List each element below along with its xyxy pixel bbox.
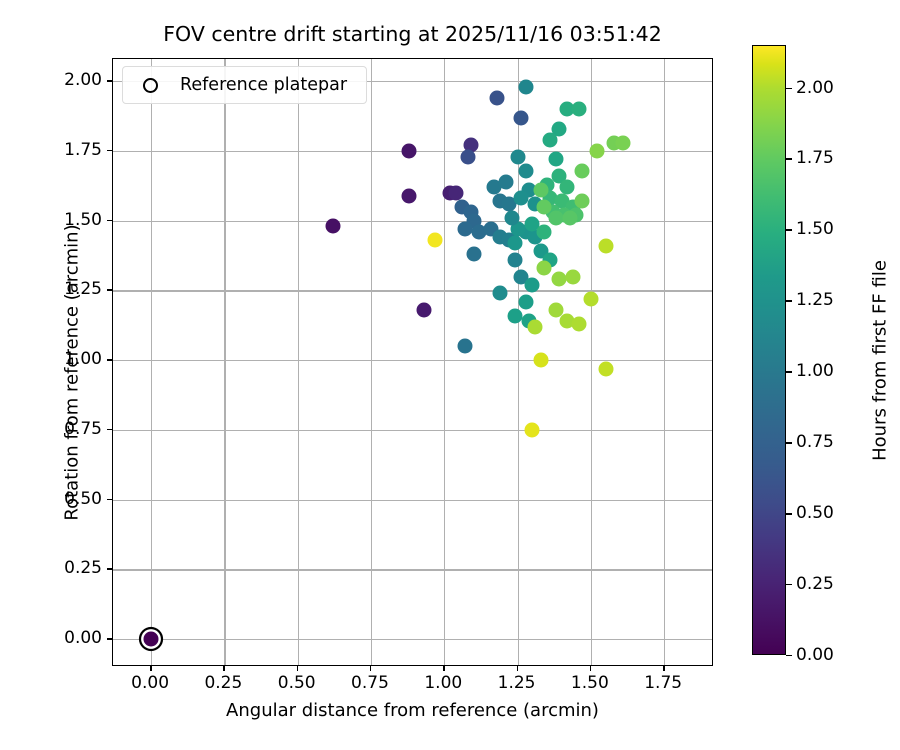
- scatter-point: [560, 180, 575, 195]
- y-axis-label: Rotation from reference (arcmin): [62, 69, 83, 677]
- colorbar-tick: [786, 371, 792, 372]
- scatter-point: [519, 163, 534, 178]
- chart-figure: FOV centre drift starting at 2025/11/16 …: [0, 0, 900, 750]
- scatter-point: [572, 102, 587, 117]
- colorbar-tick: [786, 300, 792, 301]
- scatter-point: [572, 316, 587, 331]
- y-tick: [107, 638, 112, 639]
- reference-platepar-marker-icon: [143, 78, 158, 93]
- y-tick: [107, 359, 112, 360]
- scatter-point: [575, 163, 590, 178]
- colorbar-tick-label: 1.50: [796, 219, 834, 239]
- colorbar-tick-label: 0.00: [796, 645, 834, 665]
- scatter-point: [528, 319, 543, 334]
- x-tick: [297, 666, 298, 671]
- x-tick: [663, 666, 664, 671]
- plot-area: [112, 58, 713, 666]
- y-tick: [107, 220, 112, 221]
- x-tick: [517, 666, 518, 671]
- colorbar-tick-label: 2.00: [796, 78, 834, 98]
- scatter-point: [402, 144, 417, 159]
- scatter-point: [402, 188, 417, 203]
- colorbar-tick-label: 1.75: [796, 148, 834, 168]
- scatter-point: [536, 224, 551, 239]
- scatter-point: [534, 353, 549, 368]
- colorbar-tick-label: 1.00: [796, 361, 834, 381]
- scatter-point: [583, 291, 598, 306]
- x-tick-label: 1.75: [628, 673, 698, 693]
- scatter-point: [536, 199, 551, 214]
- scatter-point: [548, 210, 563, 225]
- colorbar-label: Hours from first FF file: [870, 56, 891, 666]
- x-tick: [443, 666, 444, 671]
- x-tick-label: 0.50: [262, 673, 332, 693]
- scatter-point: [534, 183, 549, 198]
- scatter-point: [525, 277, 540, 292]
- x-tick-label: 1.00: [408, 673, 478, 693]
- scatter-point: [616, 135, 631, 150]
- scatter-point: [449, 185, 464, 200]
- colorbar-tick: [786, 88, 792, 89]
- scatter-point: [519, 79, 534, 94]
- scatter-point: [513, 191, 528, 206]
- scatter-point: [507, 308, 522, 323]
- colorbar-tick-label: 1.25: [796, 290, 834, 310]
- colorbar: [752, 45, 786, 655]
- x-tick-label: 0.00: [115, 673, 185, 693]
- scatter-point: [460, 149, 475, 164]
- x-tick-label: 1.25: [482, 673, 552, 693]
- colorbar-tick-label: 0.50: [796, 503, 834, 523]
- scatter-point: [507, 236, 522, 251]
- colorbar-tick: [786, 584, 792, 585]
- colorbar-tick: [786, 229, 792, 230]
- scatter-points-layer: [113, 59, 712, 665]
- legend-item-label: Reference platepar: [180, 75, 353, 95]
- legend: Reference platepar: [122, 66, 367, 104]
- reference-platepar-point: [144, 632, 159, 647]
- y-tick: [107, 80, 112, 81]
- scatter-point: [325, 219, 340, 234]
- scatter-point: [507, 252, 522, 267]
- scatter-point: [513, 110, 528, 125]
- y-tick: [107, 150, 112, 151]
- scatter-point: [548, 152, 563, 167]
- scatter-point: [428, 233, 443, 248]
- scatter-point: [457, 339, 472, 354]
- x-axis-label: Angular distance from reference (arcmin): [112, 700, 713, 721]
- colorbar-tick: [786, 158, 792, 159]
- scatter-point: [525, 422, 540, 437]
- y-tick: [107, 289, 112, 290]
- scatter-point: [589, 144, 604, 159]
- scatter-point: [416, 303, 431, 318]
- scatter-point: [563, 210, 578, 225]
- scatter-point: [598, 361, 613, 376]
- scatter-point: [492, 286, 507, 301]
- colorbar-tick-label: 0.25: [796, 574, 834, 594]
- scatter-point: [551, 272, 566, 287]
- colorbar-tick: [786, 513, 792, 514]
- y-tick: [107, 429, 112, 430]
- scatter-point: [504, 210, 519, 225]
- scatter-point: [566, 269, 581, 284]
- x-tick: [590, 666, 591, 671]
- x-tick-label: 0.75: [335, 673, 405, 693]
- scatter-point: [490, 91, 505, 106]
- colorbar-tick: [786, 442, 792, 443]
- x-tick: [370, 666, 371, 671]
- scatter-point: [466, 247, 481, 262]
- scatter-point: [542, 132, 557, 147]
- scatter-point: [575, 194, 590, 209]
- x-tick: [150, 666, 151, 671]
- scatter-point: [498, 174, 513, 189]
- y-tick: [107, 568, 112, 569]
- x-tick-label: 1.50: [555, 673, 625, 693]
- colorbar-tick: [786, 655, 792, 656]
- scatter-point: [598, 238, 613, 253]
- y-tick: [107, 499, 112, 500]
- scatter-point: [536, 261, 551, 276]
- scatter-point: [457, 222, 472, 237]
- colorbar-tick-label: 0.75: [796, 432, 834, 452]
- x-tick-label: 0.25: [188, 673, 258, 693]
- scatter-point: [519, 294, 534, 309]
- chart-title: FOV centre drift starting at 2025/11/16 …: [112, 22, 713, 46]
- x-tick: [223, 666, 224, 671]
- scatter-point: [510, 149, 525, 164]
